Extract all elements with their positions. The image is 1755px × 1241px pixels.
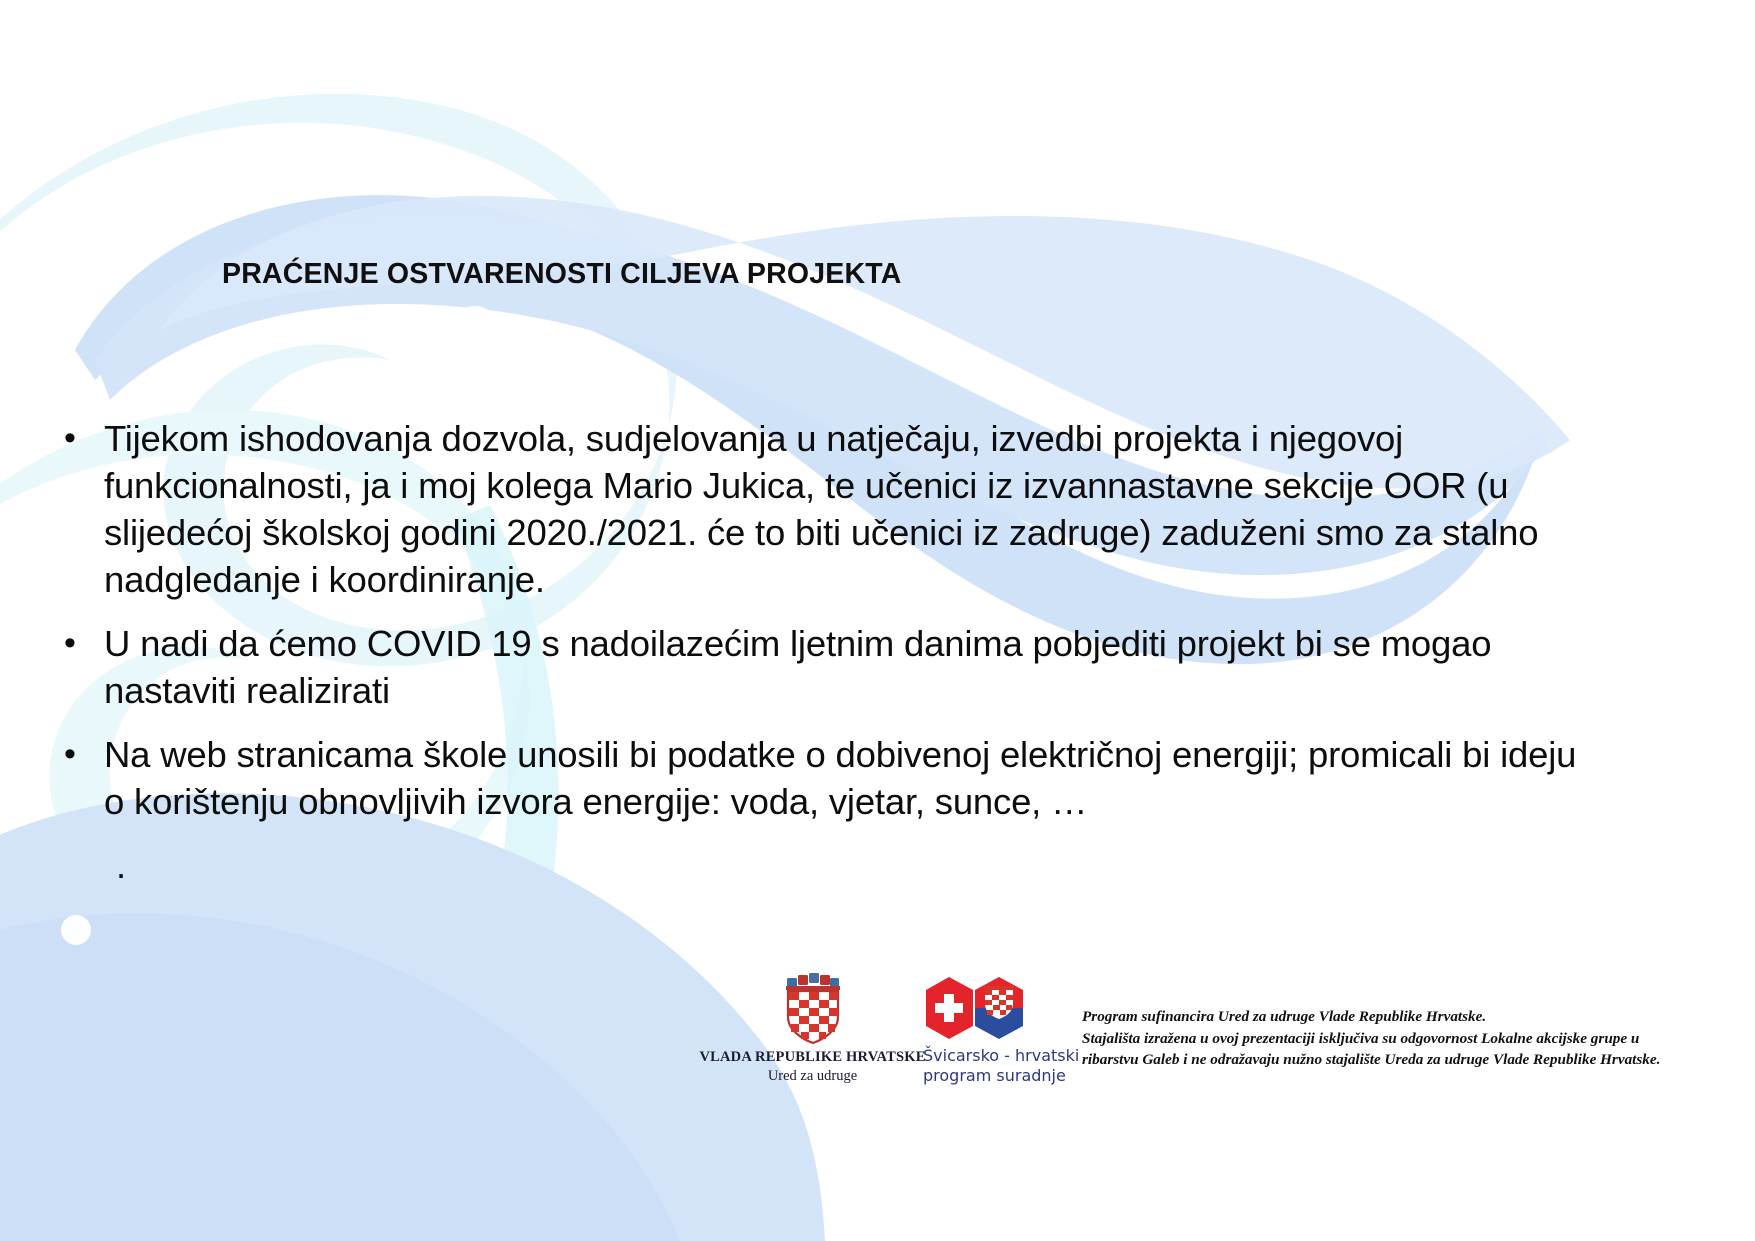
swiss-croatian-cooperation-icon — [923, 974, 1027, 1042]
bullet-marker-icon: • — [52, 415, 104, 462]
government-logo: VLADA REPUBLIKE HRVATSKE Ured za udruge — [720, 972, 905, 1085]
disclaimer-line-3: ribarstvu Galeb i ne odražavaju nužno st… — [1082, 1049, 1660, 1071]
disclaimer-line-2: Stajališta izražena u ovoj prezentaciji … — [1082, 1028, 1660, 1050]
bullet-marker-icon: • — [52, 620, 104, 667]
government-logo-caption: VLADA REPUBLIKE HRVATSKE — [699, 1049, 925, 1066]
slide-body: • Tijekom ishodovanja dozvola, sudjelova… — [52, 415, 1597, 889]
disclaimer-line-1: Program sufinancira Ured za udruge Vlade… — [1082, 1006, 1660, 1028]
accent-circle-large — [453, 306, 497, 350]
bullet-text-2: U nadi da ćemo COVID 19 s nadoilazećim l… — [104, 620, 1597, 714]
trailing-period: . — [104, 842, 1597, 889]
list-item: • Na web stranicama škole unosili bi pod… — [52, 731, 1597, 825]
footer: VLADA REPUBLIKE HRVATSKE Ured za udruge — [720, 972, 1700, 1112]
bullet-marker-icon: • — [52, 731, 104, 778]
croatian-coat-of-arms-icon — [784, 972, 842, 1044]
list-item: • U nadi da ćemo COVID 19 s nadoilazećim… — [52, 620, 1597, 714]
list-item: • Tijekom ishodovanja dozvola, sudjelova… — [52, 415, 1597, 603]
bullet-text-3: Na web stranicama škole unosili bi podat… — [104, 731, 1597, 825]
swiss-logo-line2: program suradnje — [923, 1066, 1066, 1086]
accent-circle-small — [61, 915, 91, 945]
swiss-logo-line1: Švicarsko - hrvatski — [923, 1046, 1079, 1066]
slide-canvas: PRAĆENJE OSTVARENOSTI CILJEVA PROJEKTA •… — [0, 0, 1755, 1241]
bullet-text-1: Tijekom ishodovanja dozvola, sudjelovanj… — [104, 415, 1597, 603]
wave-shape-blue-lower-2 — [0, 913, 680, 1241]
disclaimer-text: Program sufinancira Ured za udruge Vlade… — [1082, 972, 1660, 1071]
slide-title: PRAĆENJE OSTVARENOSTI CILJEVA PROJEKTA — [222, 258, 902, 291]
swiss-croatian-logo: Švicarsko - hrvatski program suradnje — [923, 972, 1058, 1086]
government-logo-subcaption: Ured za udruge — [768, 1068, 857, 1085]
